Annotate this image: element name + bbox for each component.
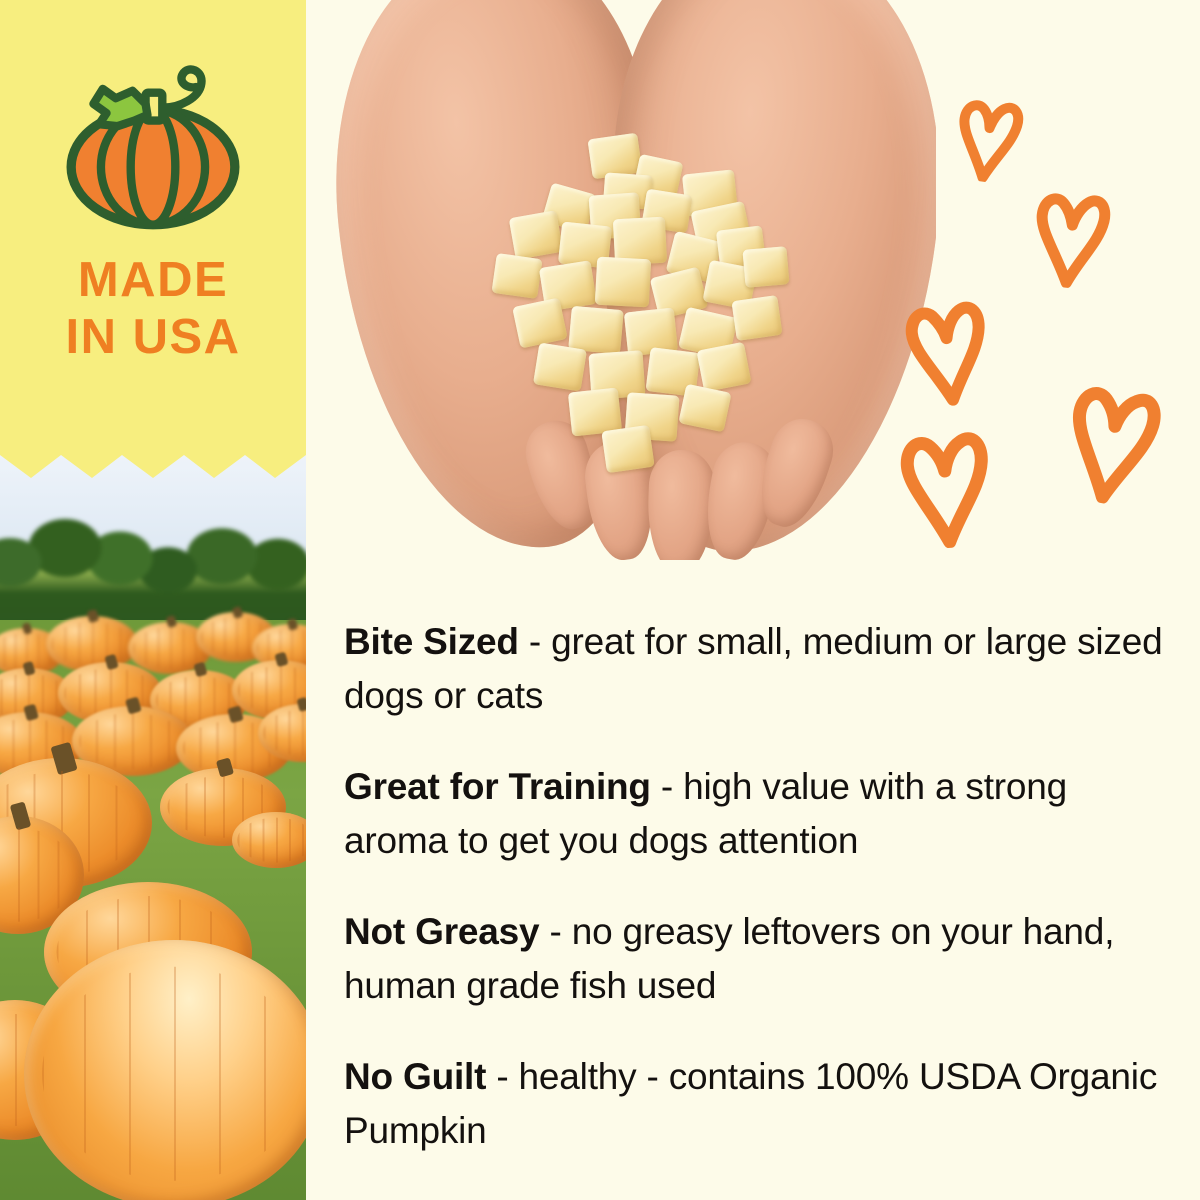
benefits-list: Bite Sized - great for small, medium or …	[344, 578, 1174, 1158]
pumpkin-icon	[60, 48, 246, 234]
badge-line-2: IN USA	[0, 309, 306, 366]
benefit-title: Not Greasy	[344, 911, 539, 952]
benefit-item: No Guilt - healthy - contains 100% USDA …	[344, 1050, 1174, 1158]
benefit-title: Great for Training	[344, 766, 651, 807]
benefit-title: No Guilt	[344, 1056, 486, 1097]
heart-3-icon	[901, 294, 996, 410]
badge-line-1: MADE	[0, 252, 306, 309]
heart-1-icon	[949, 92, 1026, 186]
right-content-area: Bite Sized - great for small, medium or …	[306, 0, 1200, 1200]
heart-4-icon	[1056, 375, 1168, 511]
made-in-usa-text: MADE IN USA	[0, 252, 306, 366]
benefit-item: Not Greasy - no greasy leftovers on your…	[344, 905, 1174, 1013]
benefit-item: Great for Training - high value with a s…	[344, 760, 1174, 868]
made-in-usa-badge-panel: MADE IN USA	[0, 0, 306, 480]
product-feature-infographic: MADE IN USA	[0, 0, 1200, 1200]
left-column: MADE IN USA	[0, 0, 306, 1200]
heart-2-icon	[1027, 184, 1115, 292]
decorative-hearts	[306, 0, 1200, 560]
heart-5-icon	[896, 425, 996, 551]
benefit-title: Bite Sized	[344, 621, 519, 662]
benefit-item: Bite Sized - great for small, medium or …	[344, 615, 1174, 723]
grass-field	[0, 620, 306, 1200]
